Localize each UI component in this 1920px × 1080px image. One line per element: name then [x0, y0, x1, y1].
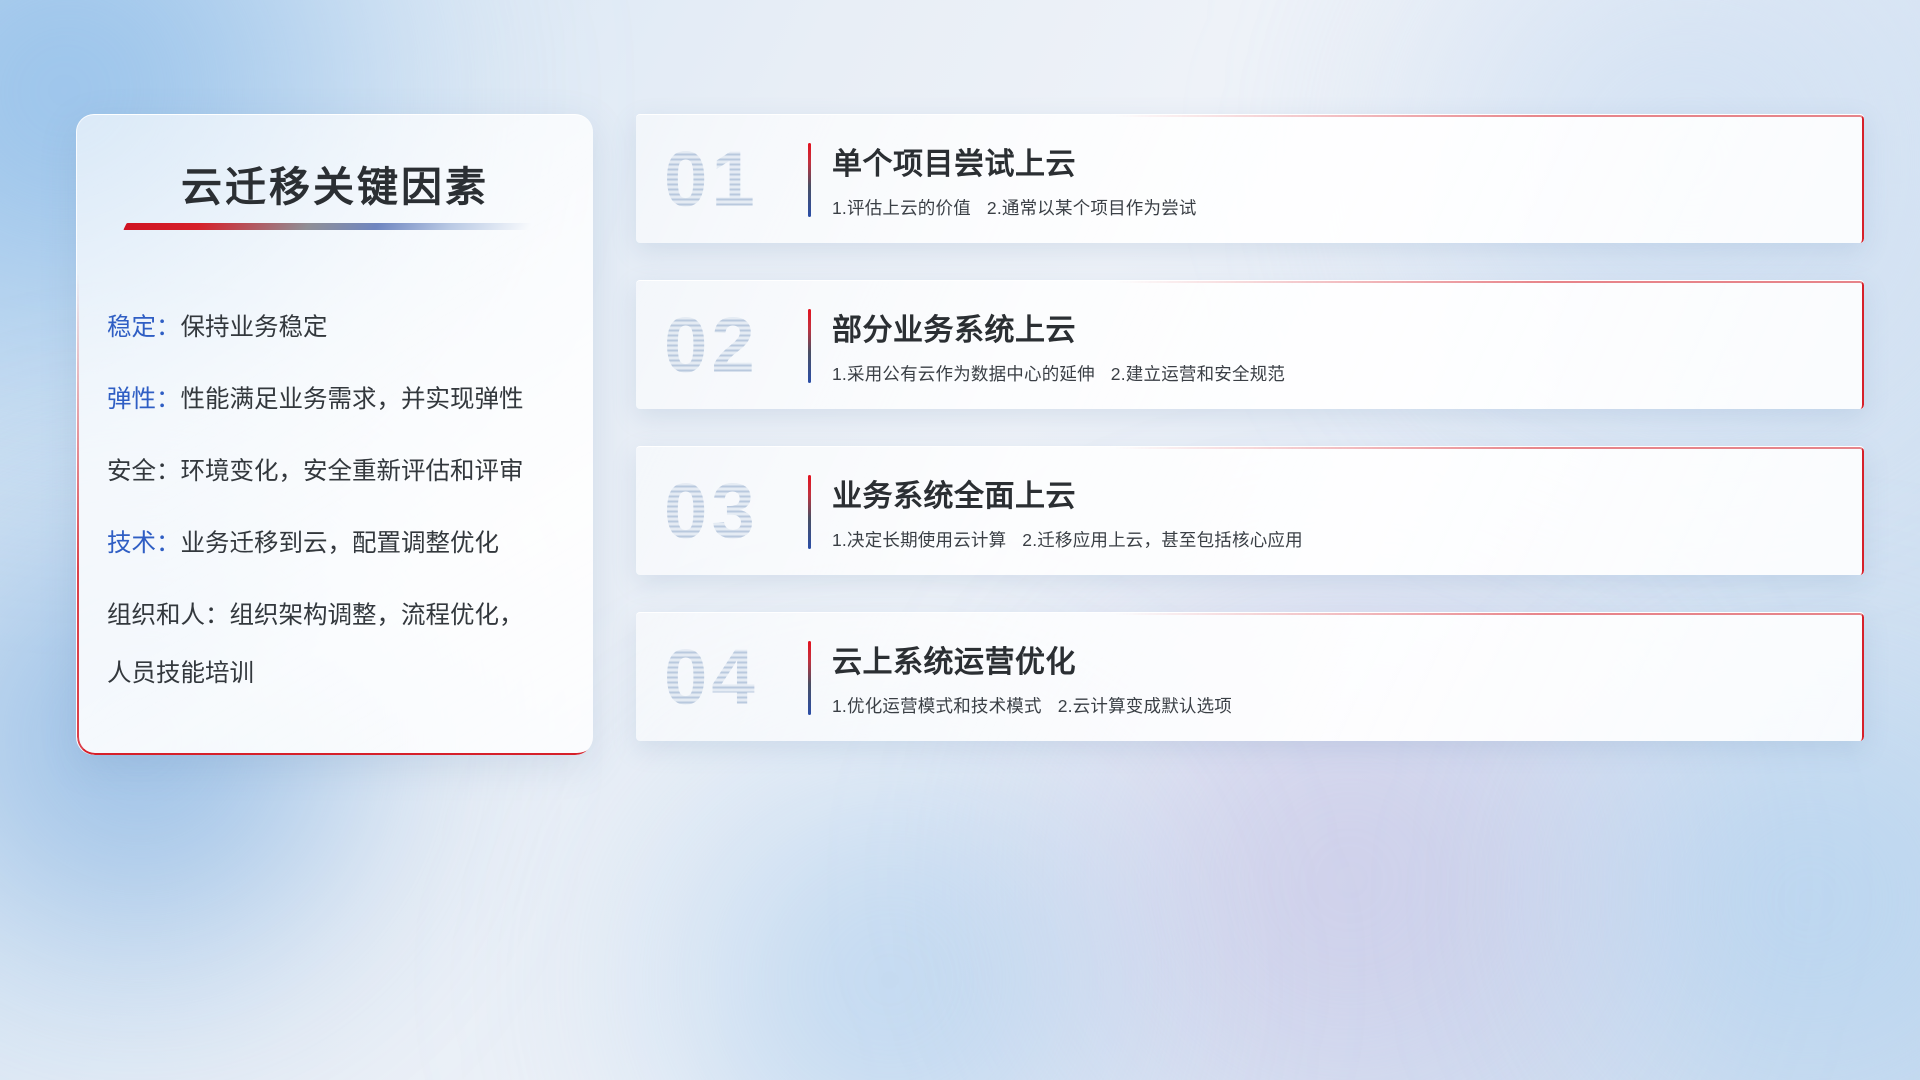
stage-card-02[interactable]: 02 02 部分业务系统上云 1.采用公有云作为数据中心的延伸2.建立运营和安全… — [636, 280, 1864, 409]
stage-detail-item-1: 1.优化运营模式和技术模式 — [832, 696, 1042, 716]
stage-body: 业务系统全面上云 1.决定长期使用云计算2.迁移应用上云，甚至包括核心应用 — [832, 471, 1840, 552]
stage-detail-item-2: 2.云计算变成默认选项 — [1058, 696, 1232, 716]
stage-card-03[interactable]: 03 03 业务系统全面上云 1.决定长期使用云计算2.迁移应用上云，甚至包括核… — [636, 446, 1864, 575]
stage-detail: 1.优化运营模式和技术模式2.云计算变成默认选项 — [832, 693, 1840, 718]
stage-title: 单个项目尝试上云 — [832, 139, 1840, 183]
stage-detail-item-1: 1.评估上云的价值 — [832, 198, 971, 218]
migration-stage-list: 01 01 单个项目尝试上云 1.评估上云的价值2.通常以某个项目作为尝试 02… — [636, 114, 1864, 741]
stage-detail: 1.采用公有云作为数据中心的延伸2.建立运营和安全规范 — [832, 361, 1840, 386]
factor-label: 组织和人： — [107, 602, 230, 629]
factor-continuation-text: 人员技能培训 — [107, 654, 577, 689]
stage-detail-item-2: 2.通常以某个项目作为尝试 — [987, 198, 1197, 218]
title-underline-accent — [123, 223, 532, 230]
background-blob-bottom-left — [520, 700, 1260, 1080]
factor-label: 技术： — [107, 530, 181, 557]
stage-detail-item-1: 1.采用公有云作为数据中心的延伸 — [832, 364, 1095, 384]
slide-canvas: 云迁移关键因素 稳定：保持业务稳定 弹性：性能满足业务需求，并实现弹性 安全：环… — [0, 0, 1920, 1080]
stage-card-04[interactable]: 04 04 云上系统运营优化 1.优化运营模式和技术模式2.云计算变成默认选项 — [636, 612, 1864, 741]
factor-text: 保持业务稳定 — [181, 314, 328, 341]
stage-number: 03 — [664, 466, 759, 557]
factor-item: 组织和人：组织架构调整，流程优化， — [107, 599, 577, 632]
factor-text: 业务迁移到云，配置调整优化 — [181, 530, 500, 557]
factor-label: 稳定： — [107, 314, 181, 341]
factor-item: 弹性：性能满足业务需求，并实现弹性 — [107, 383, 577, 416]
factor-list: 稳定：保持业务稳定 弹性：性能满足业务需求，并实现弹性 安全：环境变化，安全重新… — [107, 311, 577, 689]
stage-detail: 1.决定长期使用云计算2.迁移应用上云，甚至包括核心应用 — [832, 527, 1840, 552]
factor-label: 安全： — [107, 458, 181, 485]
factor-label: 弹性： — [107, 386, 181, 413]
stage-title: 业务系统全面上云 — [832, 471, 1840, 515]
factor-item: 稳定：保持业务稳定 — [107, 311, 577, 344]
factor-text: 性能满足业务需求，并实现弹性 — [181, 386, 524, 413]
stage-detail-item-1: 1.决定长期使用云计算 — [832, 530, 1006, 550]
stage-body: 部分业务系统上云 1.采用公有云作为数据中心的延伸2.建立运营和安全规范 — [832, 305, 1840, 386]
stage-divider-bar — [808, 309, 811, 383]
stage-number: 02 — [664, 300, 759, 391]
panel-title: 云迁移关键因素 — [77, 153, 593, 213]
key-factors-panel: 云迁移关键因素 稳定：保持业务稳定 弹性：性能满足业务需求，并实现弹性 安全：环… — [76, 114, 593, 755]
factor-item: 技术：业务迁移到云，配置调整优化 — [107, 527, 577, 560]
stage-number: 01 — [664, 134, 759, 225]
stage-divider-bar — [808, 641, 811, 715]
stage-title: 部分业务系统上云 — [832, 305, 1840, 349]
stage-number: 04 — [664, 632, 759, 723]
factor-item: 安全：环境变化，安全重新评估和评审 — [107, 455, 577, 488]
stage-body: 单个项目尝试上云 1.评估上云的价值2.通常以某个项目作为尝试 — [832, 139, 1840, 220]
stage-detail-item-2: 2.迁移应用上云，甚至包括核心应用 — [1022, 530, 1303, 550]
stage-divider-bar — [808, 143, 811, 217]
stage-title: 云上系统运营优化 — [832, 637, 1840, 681]
stage-divider-bar — [808, 475, 811, 549]
factor-text: 组织架构调整，流程优化， — [230, 602, 524, 629]
stage-card-01[interactable]: 01 01 单个项目尝试上云 1.评估上云的价值2.通常以某个项目作为尝试 — [636, 114, 1864, 243]
stage-detail: 1.评估上云的价值2.通常以某个项目作为尝试 — [832, 195, 1840, 220]
stage-body: 云上系统运营优化 1.优化运营模式和技术模式2.云计算变成默认选项 — [832, 637, 1840, 718]
stage-detail-item-2: 2.建立运营和安全规范 — [1111, 364, 1285, 384]
factor-text: 环境变化，安全重新评估和评审 — [181, 458, 524, 485]
